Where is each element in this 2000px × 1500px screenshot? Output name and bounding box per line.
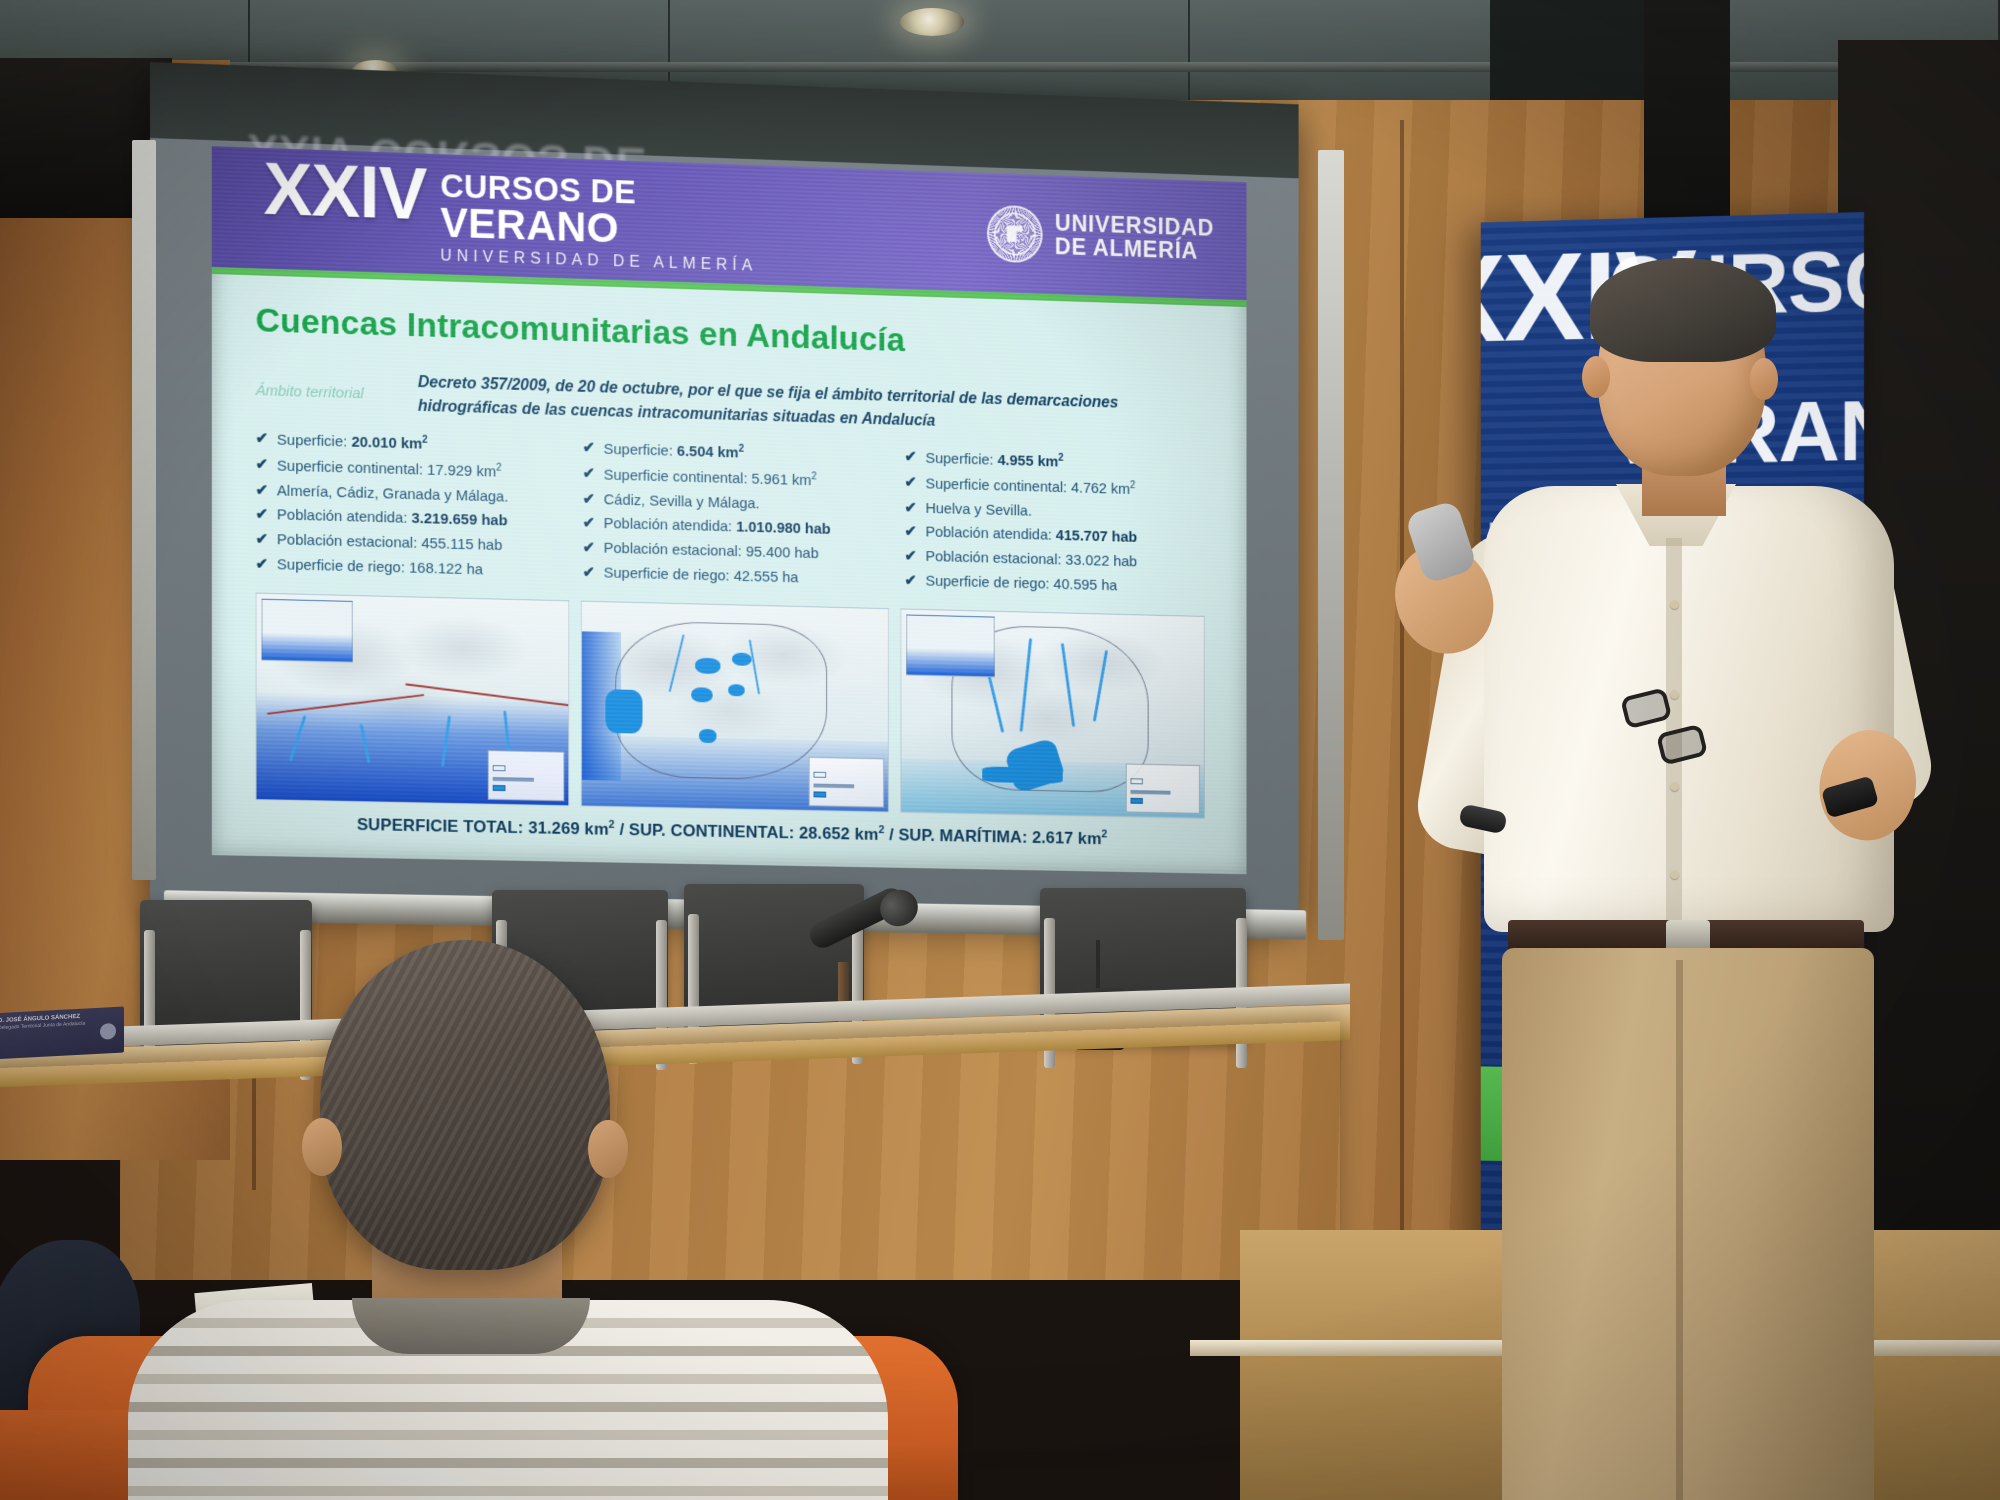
bullet-text: Superficie: 20.010 km2 xyxy=(277,431,428,455)
brand-line-university: UNIVERSIDAD DE ALMERÍA xyxy=(440,248,757,276)
bullet-item: ✔Superficie: 20.010 km2 xyxy=(256,430,565,458)
speaker-ear xyxy=(1582,356,1610,398)
screenshot-root: XXIV CURSOS DE XXIV CURSOS DE VERANO UNI… xyxy=(0,0,2000,1500)
map-cuenca-tinto-odiel-piedras xyxy=(901,608,1205,818)
check-icon: ✔ xyxy=(905,548,917,567)
check-icon: ✔ xyxy=(256,430,268,449)
bullet-item: ✔Superficie: 6.504 km2 xyxy=(583,439,888,467)
bullet-text: Huelva y Sevilla. xyxy=(925,500,1031,521)
audience-ear xyxy=(588,1120,628,1178)
audience-hair xyxy=(320,940,610,1270)
legend-swatch xyxy=(492,765,505,771)
audience-shirt-collar xyxy=(352,1298,590,1354)
speaker-hair xyxy=(1590,258,1776,362)
bullet-text: Superficie continental: 4.762 km2 xyxy=(925,474,1135,499)
map-estuary xyxy=(983,766,1063,783)
bullet-item: ✔Superficie continental: 5.961 km2 xyxy=(583,465,888,493)
bullet-item: ✔Población atendida: 415.707 hab xyxy=(905,523,1205,549)
map-cuenca-mediterranea-andaluza xyxy=(256,592,569,806)
speaker xyxy=(1430,270,1910,1500)
bullet-item: ✔Población atendida: 1.010.980 hab xyxy=(583,515,888,542)
slide: XXIV CURSOS DE VERANO UNIVERSIDAD DE ALM… xyxy=(212,146,1247,874)
ambito-territorial-label: Ámbito territorial xyxy=(256,366,393,403)
bullet-text: Superficie de riego: 168.122 ha xyxy=(277,556,483,580)
bullet-item: ✔Población estacional: 455.115 hab xyxy=(256,531,565,558)
check-icon: ✔ xyxy=(583,515,595,534)
legend-swatch xyxy=(492,784,505,790)
bullet-item: ✔Almería, Cádiz, Granada y Málaga. xyxy=(256,481,565,508)
speaker-trouser-seam xyxy=(1676,960,1683,1500)
bullet-item: ✔Cádiz, Sevilla y Málaga. xyxy=(583,490,888,517)
decree-text: Decreto 357/2009, de 20 de octubre, por … xyxy=(418,371,1118,439)
legend-swatch xyxy=(814,791,827,797)
basin-maps xyxy=(256,592,1205,818)
legend-swatch xyxy=(814,771,827,777)
check-icon: ✔ xyxy=(256,481,268,500)
check-icon: ✔ xyxy=(256,506,268,525)
speaker-trousers xyxy=(1502,948,1874,1500)
map-basin-outline xyxy=(615,620,827,781)
bullet-text: Cádiz, Sevilla y Málaga. xyxy=(604,491,760,514)
check-icon: ✔ xyxy=(583,465,595,484)
bullet-item: ✔Población estacional: 33.022 hab xyxy=(905,548,1205,574)
check-icon: ✔ xyxy=(905,523,917,542)
bullet-text: Superficie: 4.955 km2 xyxy=(925,449,1063,472)
bullet-item: ✔Superficie continental: 17.929 km2 xyxy=(256,456,565,484)
legend-line xyxy=(1131,790,1171,795)
bullet-item: ✔Huelva y Sevilla. xyxy=(905,499,1205,525)
glasses-lens xyxy=(1656,724,1708,766)
check-icon: ✔ xyxy=(583,564,595,583)
bullet-item: ✔Población atendida: 3.219.659 hab xyxy=(256,506,565,533)
speaker-ear xyxy=(1750,358,1778,400)
speaker-shirt-button xyxy=(1670,782,1679,791)
check-icon: ✔ xyxy=(583,439,595,458)
bullet-text: Población estacional: 33.022 hab xyxy=(925,548,1137,572)
check-icon: ✔ xyxy=(256,456,268,475)
bullet-item: ✔Superficie de riego: 168.122 ha xyxy=(256,555,565,581)
universidad-almeria-logo: UNIVERSIDAD DE ALMERÍA xyxy=(987,204,1214,268)
map-reservoir xyxy=(691,687,712,702)
bullet-text: Población atendida: 415.707 hab xyxy=(925,524,1137,548)
bullet-item: ✔Superficie: 4.955 km2 xyxy=(905,448,1205,476)
bullet-text: Superficie continental: 5.961 km2 xyxy=(604,465,817,490)
check-icon: ✔ xyxy=(905,499,917,518)
map-legend xyxy=(487,750,564,801)
bullet-text: Población atendida: 3.219.659 hab xyxy=(277,507,508,532)
basin-columns: ✔Superficie: 20.010 km2✔Superficie conti… xyxy=(256,430,1205,604)
legend-line xyxy=(492,776,533,781)
bullet-text: Superficie de riego: 42.555 ha xyxy=(604,564,799,587)
nameplate-seal-icon xyxy=(100,1023,116,1040)
map-estuary xyxy=(605,689,642,733)
slide-body: Cuencas Intracomunitarias en Andalucía Á… xyxy=(212,274,1247,851)
map-reservoir xyxy=(695,657,720,673)
map-reservoir xyxy=(728,684,745,696)
projection-screen: XXIV CURSOS DE XXIV CURSOS DE VERANO UNI… xyxy=(150,62,1299,922)
check-icon: ✔ xyxy=(256,531,268,550)
legend-line xyxy=(814,783,855,788)
map-reservoir xyxy=(732,652,751,665)
brand-roman-number: XXIV xyxy=(264,157,427,226)
map-inset xyxy=(907,614,995,677)
ceiling-light xyxy=(900,8,964,36)
university-name-line2: DE ALMERÍA xyxy=(1055,235,1214,264)
bullet-item: ✔Superficie continental: 4.762 km2 xyxy=(905,474,1205,502)
total-surface-summary: SUPERFICIE TOTAL: 31.269 km2 / SUP. CONT… xyxy=(256,812,1205,851)
bullet-text: Almería, Cádiz, Granada y Málaga. xyxy=(277,482,508,507)
check-icon: ✔ xyxy=(256,555,268,574)
bullet-text: Población estacional: 95.400 hab xyxy=(604,540,819,564)
bullet-text: Población atendida: 1.010.980 hab xyxy=(604,515,831,539)
cursos-verano-brand: XXIV CURSOS DE VERANO UNIVERSIDAD DE ALM… xyxy=(264,157,758,276)
bullet-text: Superficie: 6.504 km2 xyxy=(604,440,744,463)
legend-swatch xyxy=(1131,797,1143,803)
audience-member-head xyxy=(320,940,610,1270)
bullet-text: Superficie continental: 17.929 km2 xyxy=(277,456,501,482)
bullet-text: Población estacional: 455.115 hab xyxy=(277,531,502,555)
map-reservoir xyxy=(699,728,717,742)
bullet-text: Superficie de riego: 40.595 ha xyxy=(925,572,1117,595)
basin-column-cuenca-mediterranea-andaluza: ✔Superficie: 20.010 km2✔Superficie conti… xyxy=(256,430,565,588)
map-legend xyxy=(1126,763,1200,813)
nameplate: D. JOSÉ ÁNGULO SÁNCHEZ Delegado Territor… xyxy=(0,1007,124,1060)
wall-seam xyxy=(1400,120,1404,1280)
slide-title: Cuencas Intracomunitarias en Andalucía xyxy=(256,301,1205,369)
decree-row: Ámbito territorial Decreto 357/2009, de … xyxy=(256,366,1205,441)
screen-side-rail xyxy=(132,140,156,880)
audience-ear xyxy=(302,1118,342,1176)
bullet-item: ✔Superficie de riego: 40.595 ha xyxy=(905,572,1205,598)
speaker-shirt-button xyxy=(1670,870,1679,879)
check-icon: ✔ xyxy=(583,539,595,558)
speaker-shirt-button xyxy=(1670,600,1679,609)
screen-side-rail xyxy=(1318,150,1344,940)
basin-column-cuenca-tinto-odiel-piedras: ✔Superficie: 4.955 km2✔Superficie contin… xyxy=(905,448,1205,603)
transmitter-antenna xyxy=(1096,940,1100,992)
map-legend xyxy=(809,756,884,807)
bullet-item: ✔Población estacional: 95.400 hab xyxy=(583,539,888,565)
map-inset xyxy=(262,598,353,662)
projection-screen-surface: XXIV CURSOS DE XXIV CURSOS DE VERANO UNI… xyxy=(150,62,1299,922)
legend-swatch xyxy=(1131,778,1143,784)
check-icon: ✔ xyxy=(905,572,917,591)
basin-column-cuenca-guadalete-barbate: ✔Superficie: 6.504 km2✔Superficie contin… xyxy=(583,439,888,596)
bullet-item: ✔Superficie de riego: 42.555 ha xyxy=(583,564,888,590)
university-seal-icon xyxy=(987,204,1043,263)
check-icon: ✔ xyxy=(583,490,595,509)
check-icon: ✔ xyxy=(905,448,917,467)
check-icon: ✔ xyxy=(905,474,917,493)
map-cuenca-guadalete-barbate xyxy=(581,600,890,812)
